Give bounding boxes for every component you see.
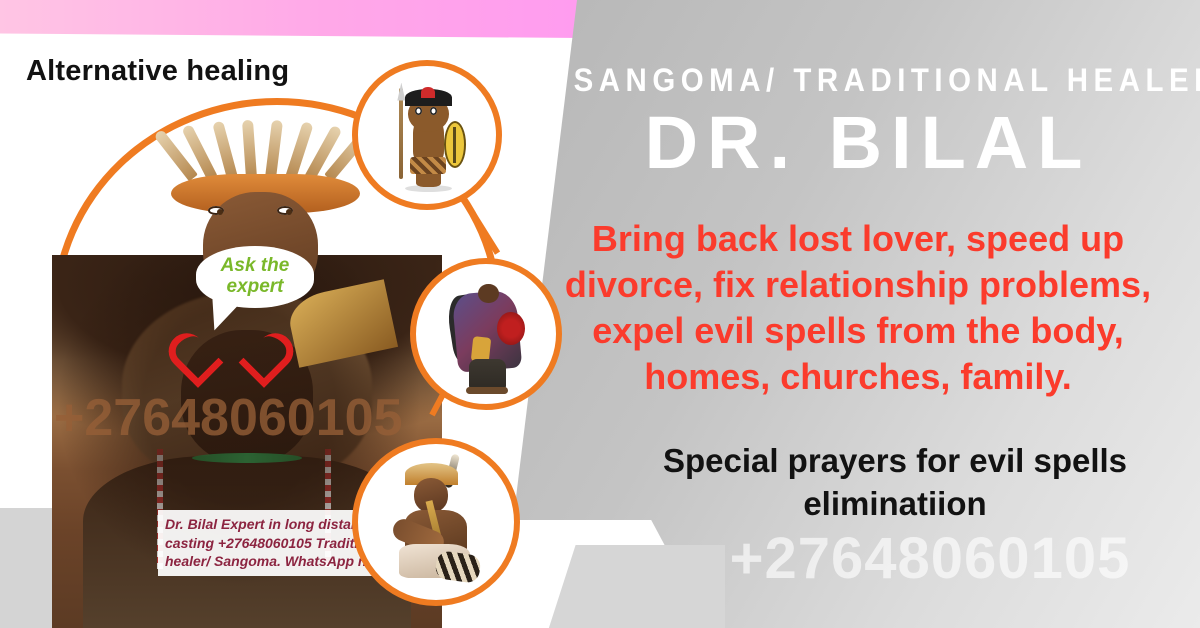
healer-legs	[469, 359, 505, 390]
ask-the-expert-bubble: Ask the expert	[196, 246, 314, 308]
photo-phone-watermark: +27648060105	[54, 388, 454, 448]
photo-caption: Dr. Bilal Expert in long distan casting …	[158, 510, 384, 576]
sangoma-striped-skirt	[434, 550, 481, 584]
phone-watermark: +27648060105	[660, 525, 1200, 592]
healer-head	[478, 284, 499, 304]
circle-crouching-sangoma	[352, 438, 520, 606]
healer-red-emblem	[497, 312, 525, 346]
poster-canvas: Alternative healing Ask	[0, 0, 1200, 628]
warrior-eye-left	[415, 107, 422, 115]
services-text: Bring back lost lover, speed up divorce,…	[528, 216, 1188, 400]
spear-icon	[399, 88, 403, 179]
special-prayers-text: Special prayers for evil spells eliminat…	[600, 440, 1190, 526]
ask-the-expert-label: Ask the expert	[196, 256, 314, 297]
warrior-skirt	[410, 157, 446, 174]
healer-feet	[466, 387, 508, 394]
kicker-title: SANGOMA/ TRADITIONAL HEALER	[574, 62, 1163, 99]
shield-stripe	[453, 127, 456, 163]
feather-headdress-icon	[185, 105, 346, 179]
warrior-red-plume	[421, 87, 435, 98]
top-pink-bar	[0, 0, 600, 38]
circle-zulu-warrior	[352, 60, 502, 210]
warrior-legs	[416, 174, 441, 188]
brand-title: DR. BILAL	[548, 104, 1188, 182]
alternative-healing-heading: Alternative healing	[26, 55, 289, 88]
photo-green-necklace	[192, 453, 301, 463]
